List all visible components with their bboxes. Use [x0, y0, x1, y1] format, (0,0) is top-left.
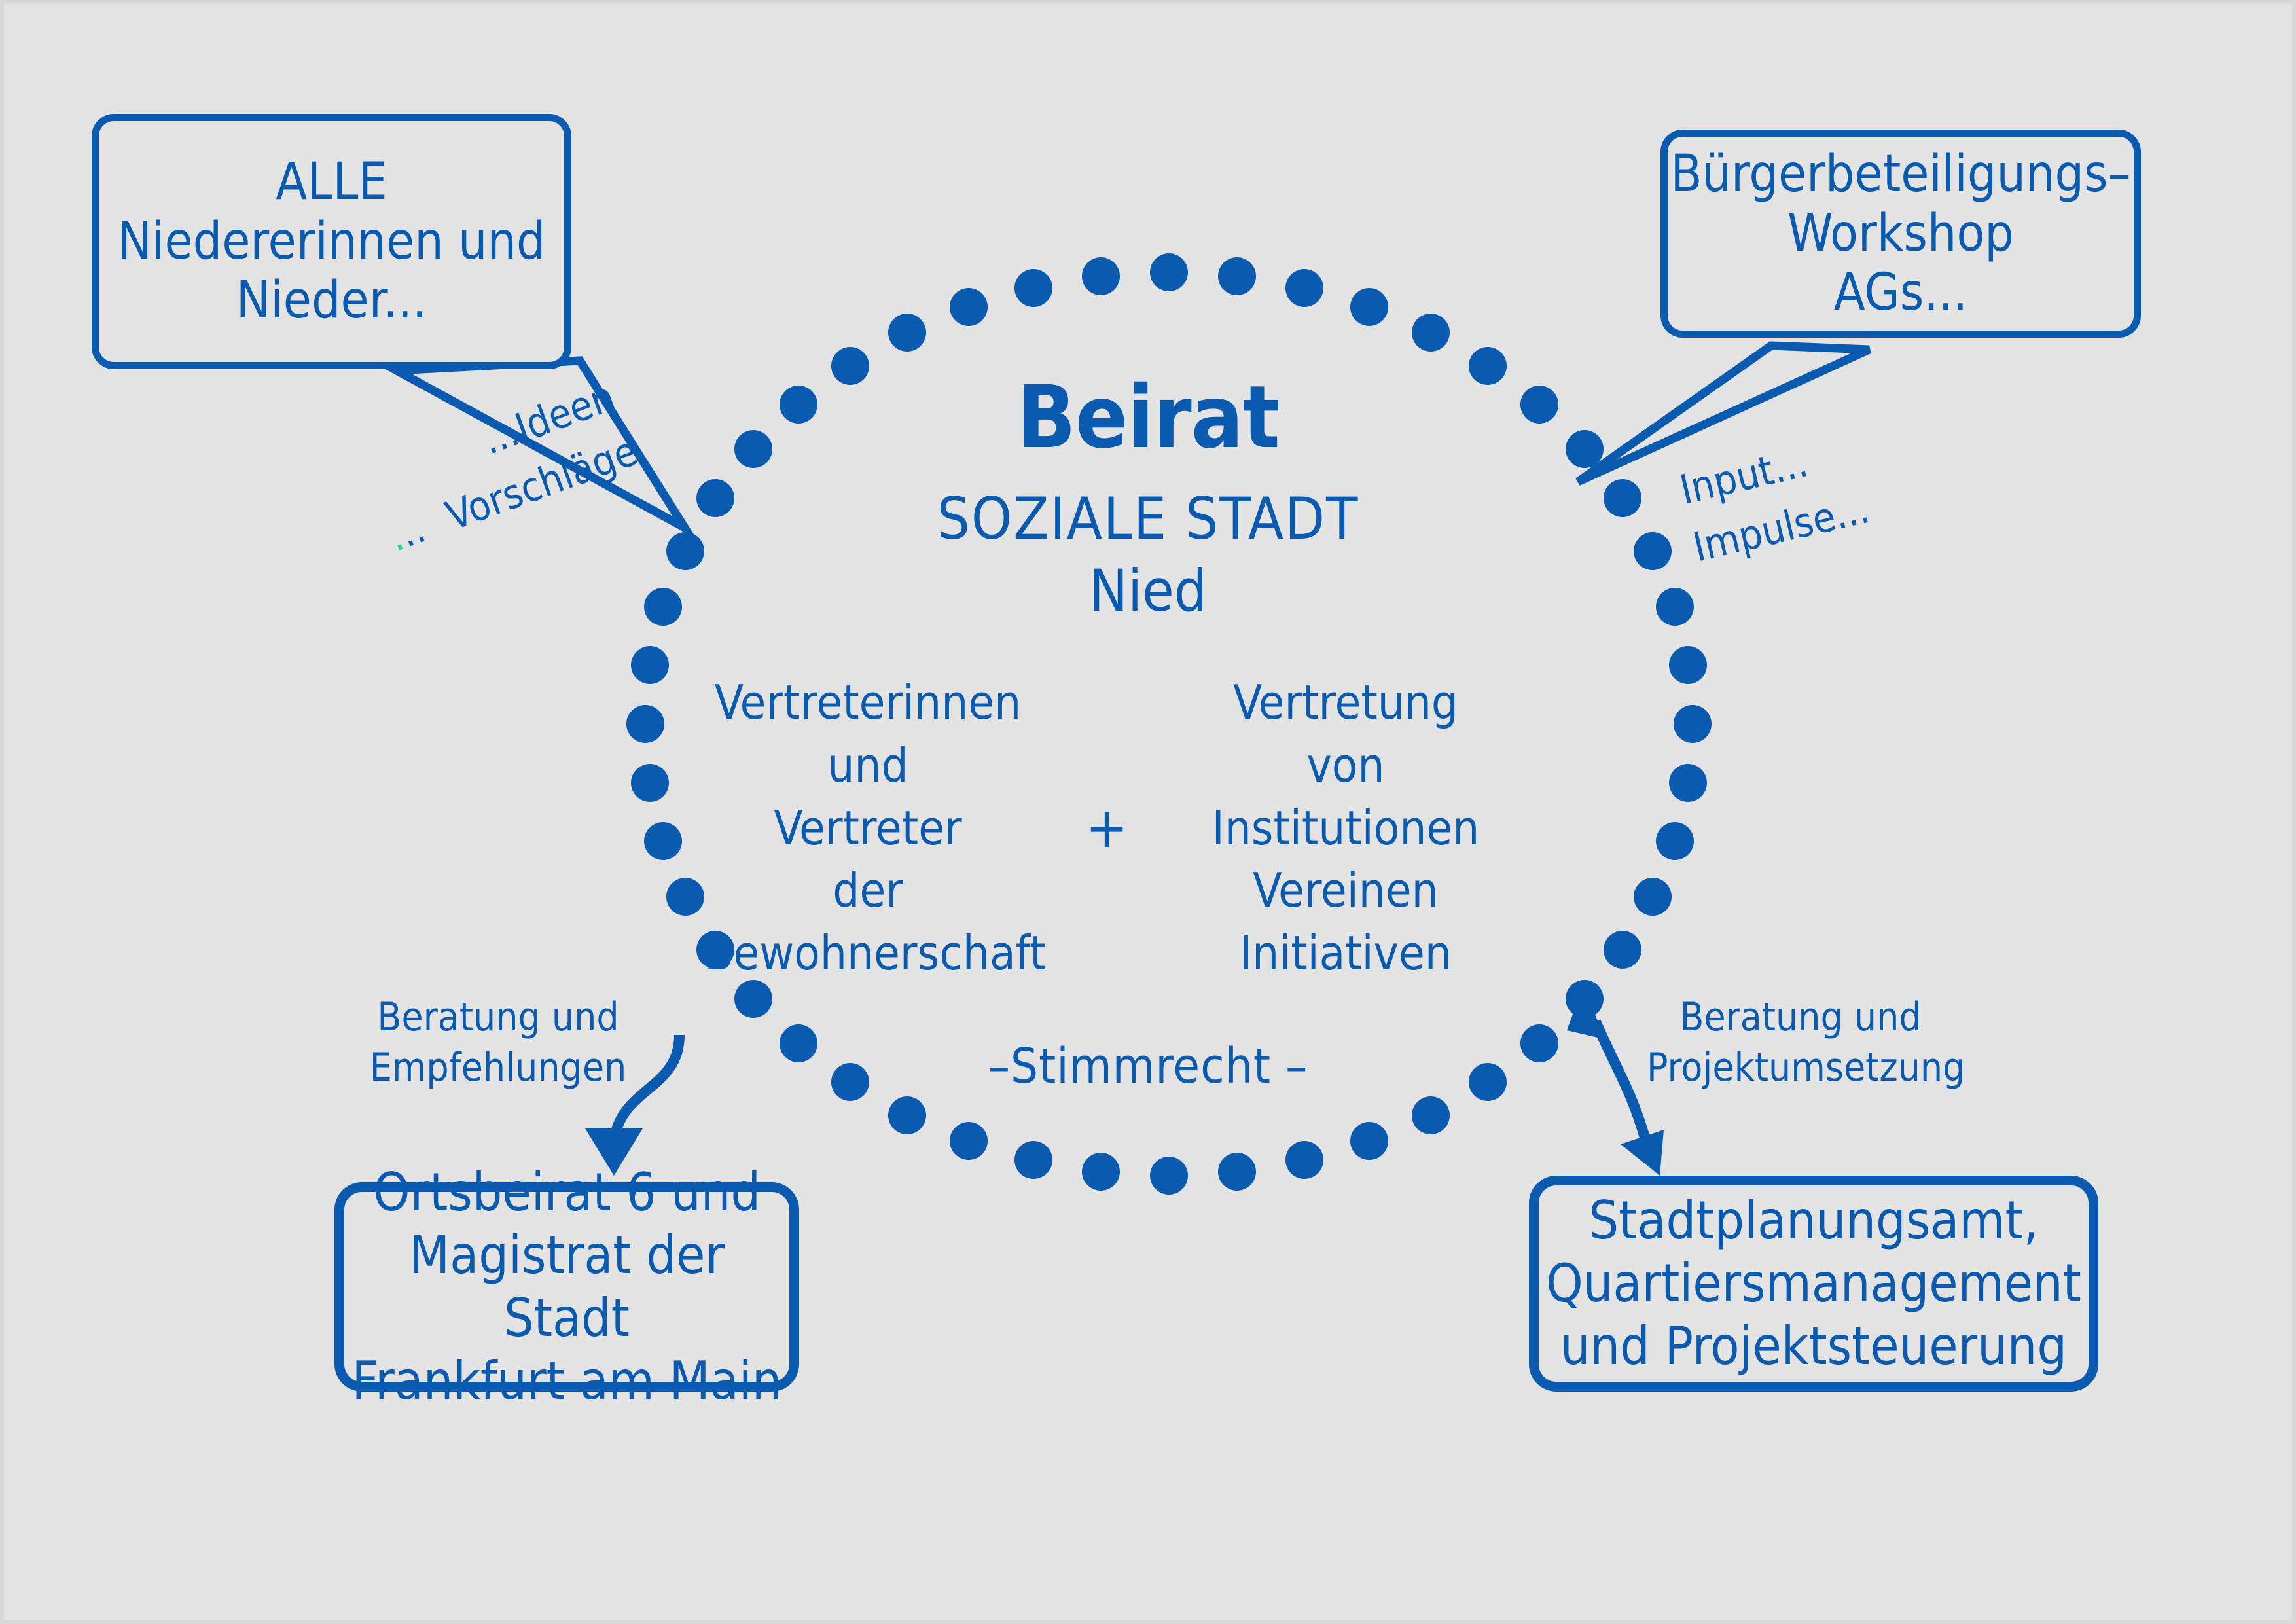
- speech-bubble-residents-text: ALLE Niedererinnen und Nieder...: [117, 153, 545, 330]
- annotation-beratung-empfehlungen: Beratung und Empfehlungen: [367, 992, 629, 1093]
- speech-bubble-residents[interactable]: ALLE Niedererinnen und Nieder...: [92, 114, 571, 369]
- entity-box-ortsbeirat-text: Ortsbeirat 6 und Magistrat der Stadt Fra…: [344, 1161, 789, 1413]
- arrow-right-up-head: [1567, 987, 1606, 1039]
- annotation-beratung-left-line1: Beratung und: [367, 992, 629, 1043]
- annotation-beratung-right-line1: Beratung und: [1647, 992, 1954, 1043]
- plus-operator: +: [1077, 800, 1136, 856]
- speech-bubble-participation-text: Bürgerbeteiligungs– Workshop AGs...: [1670, 145, 2130, 322]
- annotation-beratung-left-line2: Empfehlungen: [367, 1043, 629, 1093]
- diagram-canvas: ALLE Niedererinnen und Nieder... Bürgerb…: [0, 0, 2296, 1624]
- page-title: Beirat: [4, 367, 2292, 468]
- annotation-beratung-right-line2: Projektumsetzung: [1647, 1043, 1954, 1093]
- column-residents: Vertreterinnen und Vertreter der Bewohne…: [704, 672, 1031, 985]
- entity-box-stadtplanungsamt[interactable]: Stadtplanungsamt, Quartiersmanagement un…: [1529, 1176, 2098, 1392]
- column-institutions-text: Vertretung von Institutionen Vereinen In…: [1212, 675, 1480, 981]
- subtitle-nied: Nied: [4, 557, 2292, 624]
- membership-composition: Vertreterinnen und Vertreter der Bewohne…: [704, 672, 1509, 985]
- column-institutions: Vertretung von Institutionen Vereinen In…: [1182, 672, 1509, 985]
- speech-bubble-participation[interactable]: Bürgerbeteiligungs– Workshop AGs...: [1660, 130, 2141, 338]
- entity-box-ortsbeirat[interactable]: Ortsbeirat 6 und Magistrat der Stadt Fra…: [334, 1182, 799, 1392]
- entity-box-stadtplanungsamt-text: Stadtplanungsamt, Quartiersmanagement un…: [1546, 1189, 2081, 1378]
- annotation-beratung-projektumsetzung: Beratung und Projektumsetzung: [1647, 992, 1954, 1093]
- subtitle-soziale-stadt: SOZIALE STADT: [4, 485, 2292, 552]
